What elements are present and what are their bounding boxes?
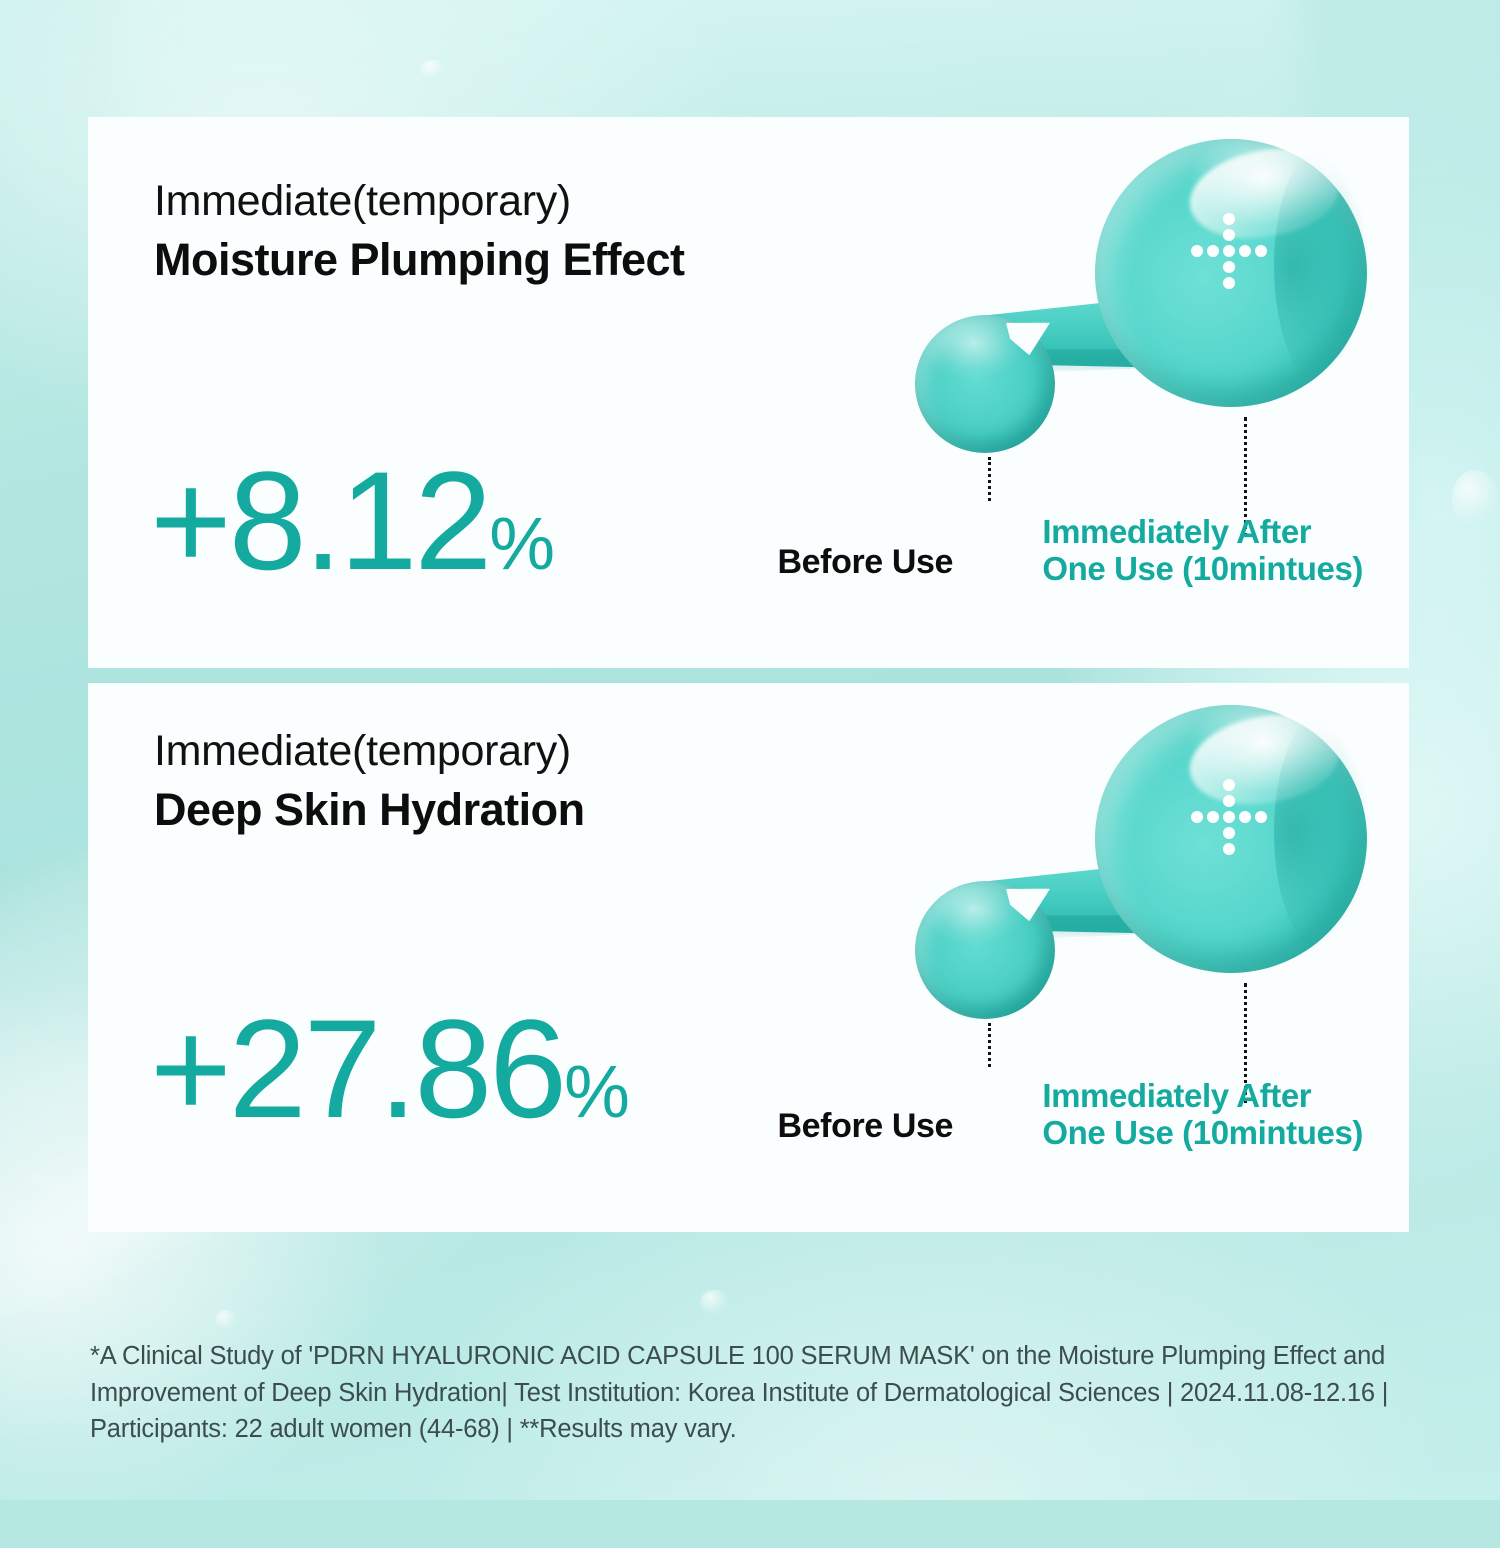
stat-card-deep-hydration: Immediate(temporary) Deep Skin Hydration… [88, 683, 1409, 1232]
stat-unit: % [564, 1050, 629, 1133]
clinical-study-footnote: *A Clinical Study of 'PDRN HYALURONIC AC… [90, 1338, 1420, 1448]
plus-dot-icon [1191, 779, 1267, 855]
droplet-illustration: Before Use Immediately After One Use (10… [785, 683, 1385, 1232]
label-after-line1: Immediately After [1042, 513, 1363, 551]
stat-unit: % [489, 502, 554, 585]
stat-card-moisture-plumping: Immediate(temporary) Moisture Plumping E… [88, 117, 1409, 668]
card-title: Deep Skin Hydration [154, 782, 585, 838]
card-eyebrow: Immediate(temporary) [154, 725, 585, 778]
label-after-use: Immediately After One Use (10mintues) [1042, 513, 1363, 588]
label-after-line2: One Use (10mintues) [1042, 1114, 1363, 1152]
background-bubble [420, 60, 446, 78]
leader-line-before [988, 457, 991, 501]
background-bubble [1452, 470, 1498, 528]
stat-value-block: +27.86% [150, 999, 629, 1139]
stat-number: +27.86 [150, 990, 564, 1147]
card-heading-block: Immediate(temporary) Deep Skin Hydration [154, 725, 585, 838]
stat-number: +8.12 [150, 442, 489, 599]
label-after-line2: One Use (10mintues) [1042, 550, 1363, 588]
card-title: Moisture Plumping Effect [154, 232, 685, 288]
card-heading-block: Immediate(temporary) Moisture Plumping E… [154, 175, 685, 288]
droplet-illustration: Before Use Immediately After One Use (10… [785, 117, 1385, 668]
card-eyebrow: Immediate(temporary) [154, 175, 685, 228]
background-bubble [700, 1290, 730, 1314]
label-after-line1: Immediately After [1042, 1077, 1363, 1115]
stat-value-block: +8.12% [150, 451, 554, 591]
label-before-use: Before Use [777, 543, 953, 582]
leader-line-before [988, 1023, 991, 1067]
plus-dot-icon [1191, 213, 1267, 289]
label-after-use: Immediately After One Use (10mintues) [1042, 1077, 1363, 1152]
label-before-use: Before Use [777, 1107, 953, 1146]
background-bubble [215, 1310, 237, 1330]
